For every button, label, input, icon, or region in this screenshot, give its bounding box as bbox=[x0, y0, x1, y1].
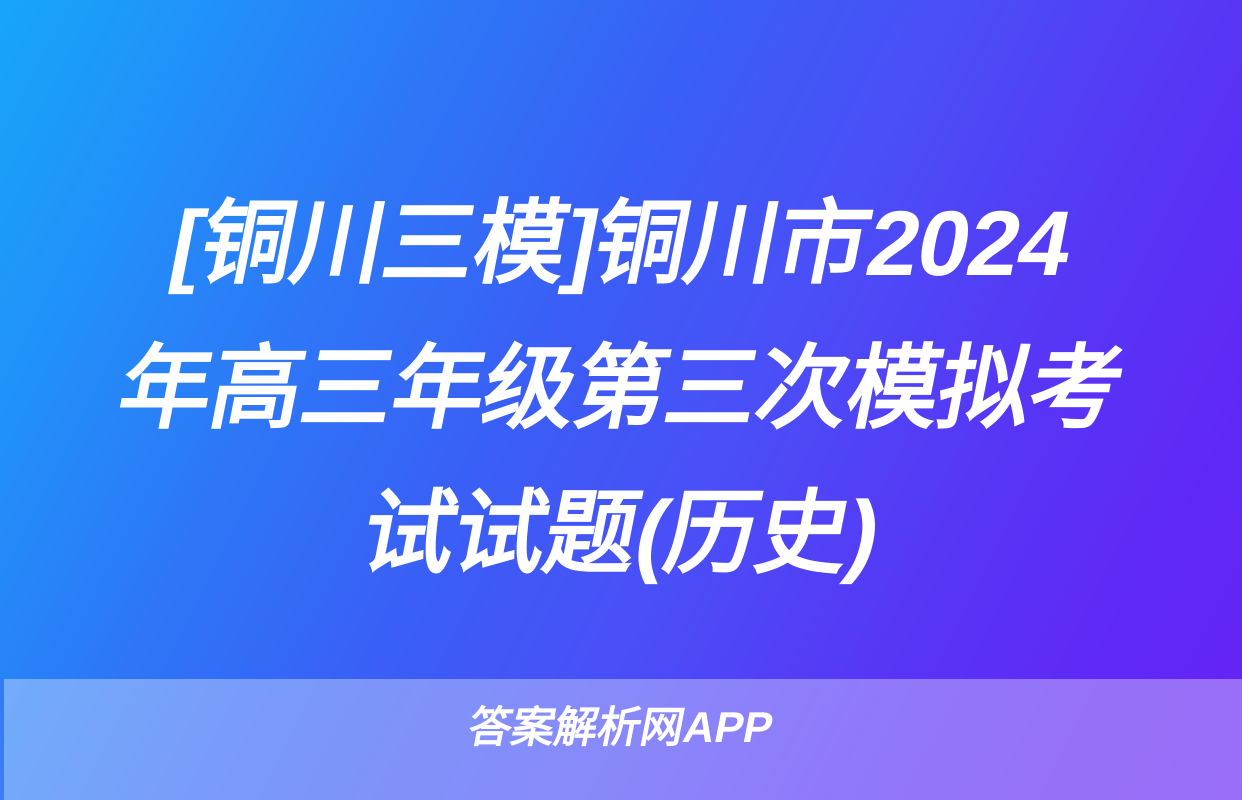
title-line-1: [铜川三模]铜川市2024 bbox=[14, 172, 1228, 317]
watermark: 答案解析网APP bbox=[0, 702, 1242, 754]
poster-canvas: [铜川三模]铜川市2024 年高三年级第三次模拟考 试试题(历史) 答案解析网A… bbox=[0, 0, 1242, 800]
poster-title: [铜川三模]铜川市2024 年高三年级第三次模拟考 试试题(历史) bbox=[0, 172, 1242, 607]
title-line-3: 试试题(历史) bbox=[14, 462, 1228, 607]
title-line-2: 年高三年级第三次模拟考 bbox=[14, 317, 1228, 462]
watermark-label: 答案解析网APP bbox=[464, 702, 778, 754]
